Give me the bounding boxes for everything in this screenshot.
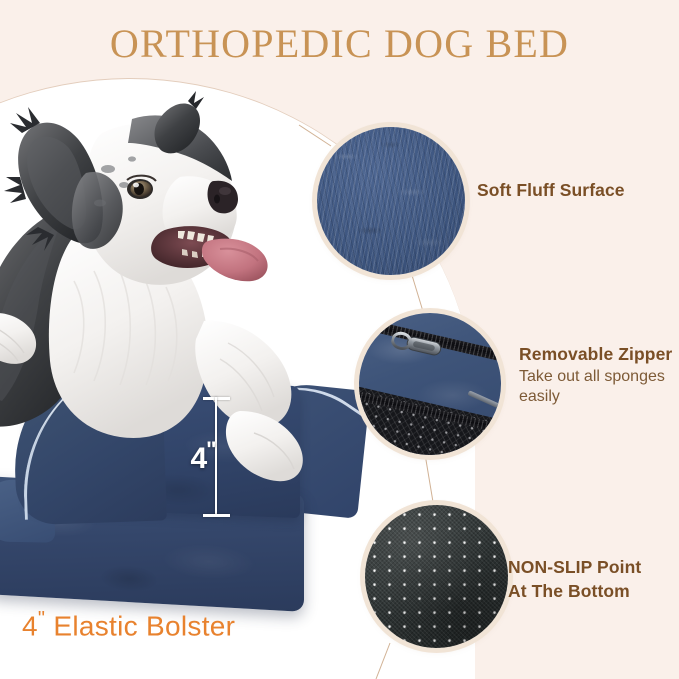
product-scene: 4" <box>0 85 360 655</box>
dimension-value: 4 <box>190 442 206 475</box>
height-dimension-marker: 4" <box>196 397 236 517</box>
bolster-caption-text: Elastic Bolster <box>53 610 235 641</box>
feature-label-soft-fluff: Soft Fluff Surface <box>477 179 625 203</box>
feature-title: Removable Zipper <box>519 343 679 367</box>
dog-photo <box>0 81 342 511</box>
bolster-caption-unit: " <box>38 608 45 630</box>
feature-subtitle: Take out all sponges easily <box>519 367 679 409</box>
page-title: ORTHOPEDIC DOG BED <box>0 20 679 67</box>
feature-title-line2: At The Bottom <box>508 580 641 604</box>
callout-circle-removable-zipper[interactable] <box>359 313 501 455</box>
dimension-label: 4" <box>182 437 224 476</box>
callout-circle-soft-fluff[interactable] <box>317 127 465 275</box>
feature-title: NON-SLIP Point <box>508 556 641 580</box>
feature-label-non-slip: NON-SLIP Point At The Bottom <box>508 556 641 603</box>
infographic-canvas: ORTHOPEDIC DOG BED <box>0 0 679 679</box>
soft-fluff-texture-swatch <box>317 127 465 275</box>
feature-title: Soft Fluff Surface <box>477 179 625 203</box>
feature-label-removable-zipper: Removable Zipper Take out all sponges ea… <box>519 343 679 408</box>
dimension-unit: " <box>206 437 215 462</box>
bolster-caption: 4" Elastic Bolster <box>22 608 235 642</box>
dimension-cap-bottom <box>203 514 230 517</box>
bolster-caption-number: 4 <box>22 610 38 641</box>
non-slip-shading <box>365 505 508 648</box>
callout-circle-non-slip[interactable] <box>365 505 508 648</box>
